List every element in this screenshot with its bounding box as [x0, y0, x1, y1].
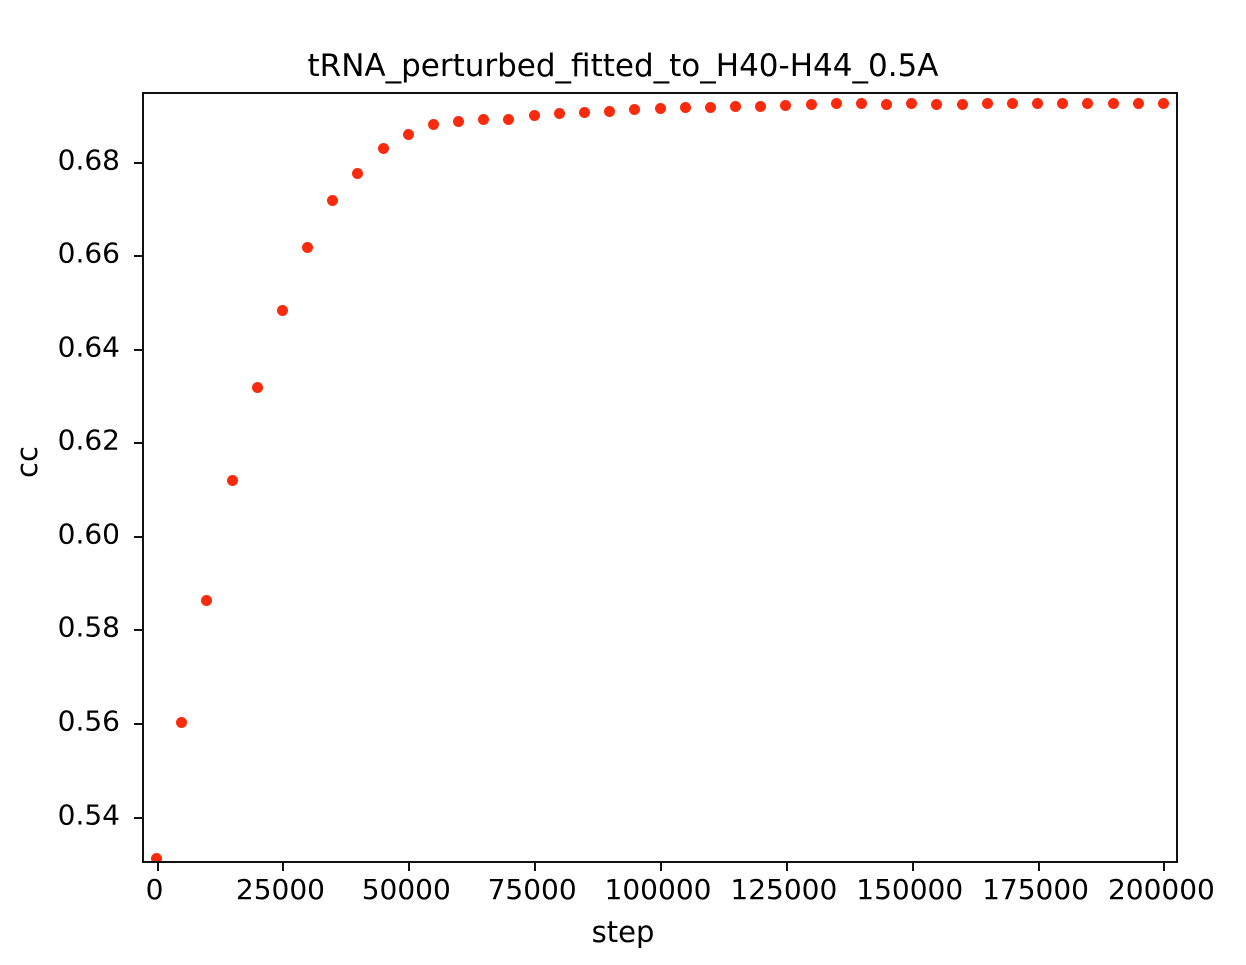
data-point: [1133, 98, 1144, 109]
data-point: [227, 475, 238, 486]
data-point: [453, 116, 464, 127]
data-point: [780, 100, 791, 111]
data-point: [554, 108, 565, 119]
data-point: [201, 595, 212, 606]
y-axis-tick: [134, 162, 144, 164]
y-axis-tick-label: 0.54: [0, 798, 120, 831]
data-point: [881, 99, 892, 110]
x-axis-tick: [1163, 861, 1165, 871]
x-axis-tick-label: 100000: [605, 873, 712, 906]
y-axis-tick-label: 0.60: [0, 517, 120, 550]
y-axis-tick: [134, 536, 144, 538]
data-point: [428, 119, 439, 130]
data-point: [655, 103, 666, 114]
data-point: [1057, 98, 1068, 109]
data-point: [352, 168, 363, 179]
x-axis-tick-label: 25000: [236, 873, 325, 906]
data-point: [529, 110, 540, 121]
x-axis-tick: [282, 861, 284, 871]
data-point: [931, 99, 942, 110]
x-axis-tick: [786, 861, 788, 871]
data-point: [378, 143, 389, 154]
x-axis-tick-label: 50000: [362, 873, 451, 906]
figure-canvas: tRNA_perturbed_fitted_to_H40-H44_0.5A cc…: [0, 0, 1246, 965]
data-point: [680, 102, 691, 113]
data-point: [302, 242, 313, 253]
data-point: [957, 99, 968, 110]
data-point: [1158, 98, 1169, 109]
page-title: tRNA_perturbed_fitted_to_H40-H44_0.5A: [0, 48, 1246, 84]
x-axis-tick-label: 75000: [488, 873, 577, 906]
data-point: [277, 305, 288, 316]
data-point: [705, 102, 716, 113]
plot-area: [142, 92, 1178, 863]
y-axis-tick-label: 0.68: [0, 143, 120, 176]
data-point: [579, 107, 590, 118]
x-axis-tick: [534, 861, 536, 871]
x-axis-tick-label: 0: [146, 873, 164, 906]
y-axis-tick: [134, 255, 144, 257]
x-axis-tick-label: 175000: [982, 873, 1089, 906]
y-axis-tick-label: 0.56: [0, 705, 120, 738]
data-point: [831, 98, 842, 109]
y-axis-tick-label: 0.64: [0, 330, 120, 363]
x-axis-tick: [157, 861, 159, 871]
y-axis-tick-label: 0.58: [0, 611, 120, 644]
data-point: [403, 129, 414, 140]
data-point: [327, 195, 338, 206]
y-axis-tick: [134, 723, 144, 725]
data-point: [856, 98, 867, 109]
x-axis-label: step: [0, 915, 1246, 949]
data-point: [252, 382, 263, 393]
y-axis-tick: [134, 349, 144, 351]
data-point: [629, 104, 640, 115]
data-point: [755, 101, 766, 112]
data-point: [151, 853, 162, 861]
data-point: [478, 114, 489, 125]
y-axis-tick: [134, 629, 144, 631]
data-point: [982, 98, 993, 109]
data-point: [1082, 98, 1093, 109]
y-axis-tick-label: 0.66: [0, 237, 120, 270]
data-point: [906, 98, 917, 109]
data-point: [1032, 98, 1043, 109]
x-axis-tick: [1038, 861, 1040, 871]
y-axis-tick: [134, 817, 144, 819]
x-axis-tick-label: 125000: [730, 873, 837, 906]
data-point: [1007, 98, 1018, 109]
data-point: [604, 106, 615, 117]
x-axis-tick: [408, 861, 410, 871]
data-point: [176, 717, 187, 728]
x-axis-tick: [660, 861, 662, 871]
data-point: [806, 99, 817, 110]
scatter-series-cc: [144, 94, 1176, 861]
data-point: [503, 114, 514, 125]
x-axis-tick-label: 150000: [856, 873, 963, 906]
y-axis-tick: [134, 442, 144, 444]
data-point: [1108, 98, 1119, 109]
x-axis-tick: [912, 861, 914, 871]
x-axis-tick-label: 200000: [1108, 873, 1215, 906]
y-axis-tick-label: 0.62: [0, 424, 120, 457]
data-point: [730, 101, 741, 112]
